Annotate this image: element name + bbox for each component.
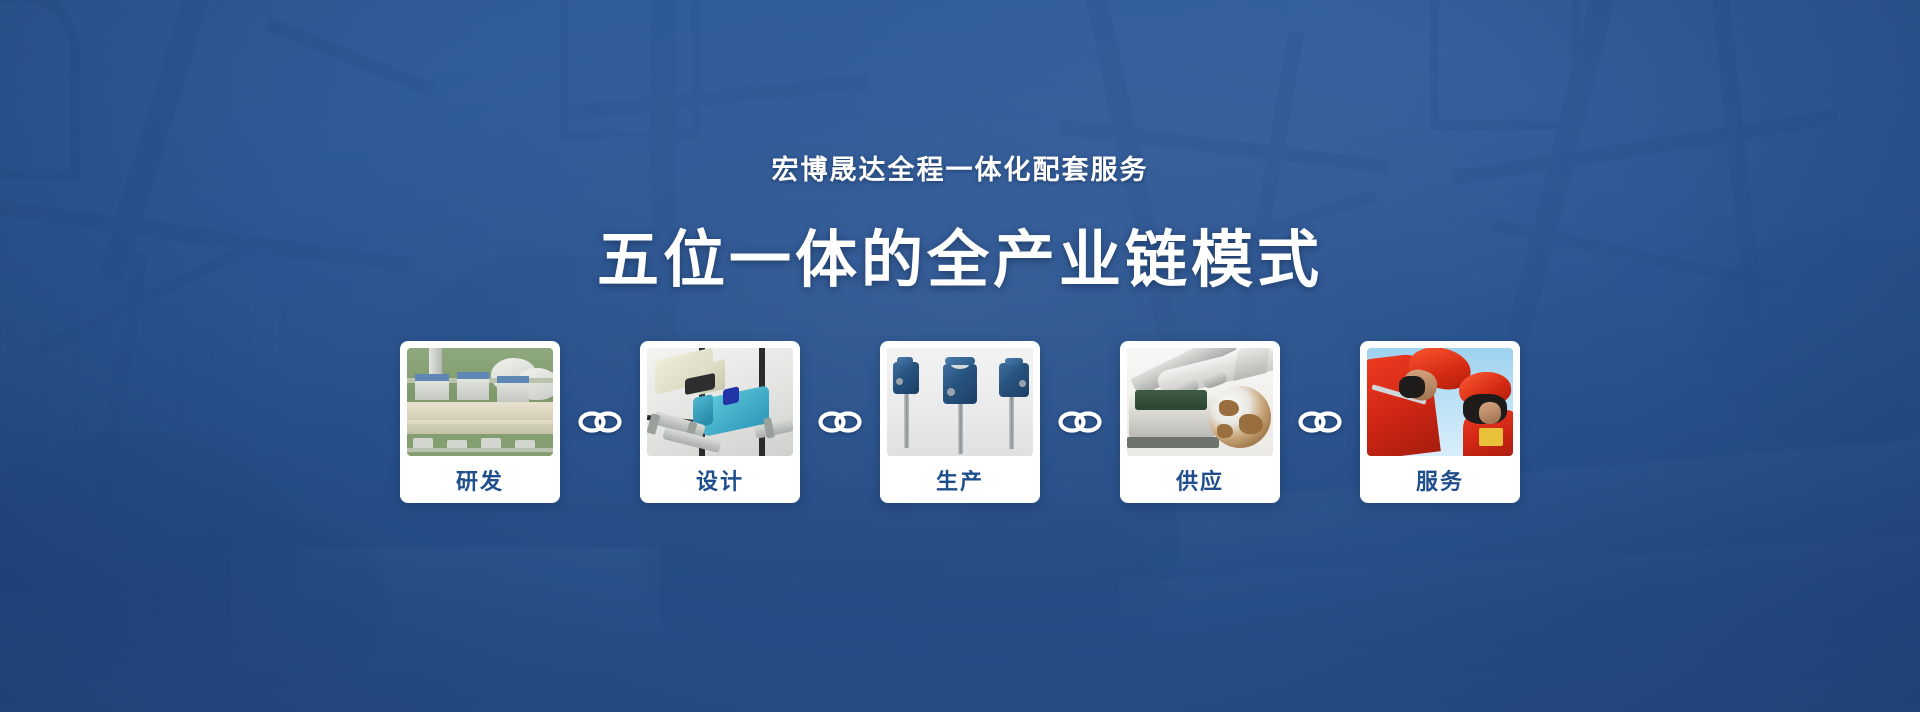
chain-link-icon <box>1298 410 1342 434</box>
chain-connector-3 <box>1040 410 1120 434</box>
chain-link-icon <box>578 410 622 434</box>
chain-connector-2 <box>800 410 880 434</box>
banner-title: 五位一体的全产业链模式 <box>597 209 1323 299</box>
banner-root: 宏博晟达全程一体化配套服务 五位一体的全产业链模式 <box>0 0 1920 712</box>
chain-step-thumbnail-4 <box>1127 348 1273 456</box>
chain-step-label-3: 生产 <box>887 456 1033 503</box>
banner-content: 宏博晟达全程一体化配套服务 五位一体的全产业链模式 <box>0 0 1920 712</box>
chain-step-thumbnail-1 <box>407 348 553 456</box>
chain-step-label-5: 服务 <box>1367 456 1513 503</box>
chain-step-label-1: 研发 <box>407 456 553 503</box>
chain-step-thumbnail-2 <box>647 348 793 456</box>
chain-step-thumbnail-5 <box>1367 348 1513 456</box>
chain-step-card-2[interactable]: 设计 <box>640 341 800 503</box>
chain-step-label-2: 设计 <box>647 456 793 503</box>
chain-link-icon <box>1058 410 1102 434</box>
chain-step-label-4: 供应 <box>1127 456 1273 503</box>
chain-connector-1 <box>560 410 640 434</box>
chain-step-card-3[interactable]: 生产 <box>880 341 1040 503</box>
value-chain-row: 研发 <box>400 341 1520 503</box>
chain-connector-4 <box>1280 410 1360 434</box>
chain-link-icon <box>818 410 862 434</box>
chain-step-thumbnail-3 <box>887 348 1033 456</box>
chain-step-card-1[interactable]: 研发 <box>400 341 560 503</box>
banner-subtitle: 宏博晟达全程一体化配套服务 <box>772 148 1149 187</box>
chain-step-card-5[interactable]: 服务 <box>1360 341 1520 503</box>
chain-step-card-4[interactable]: 供应 <box>1120 341 1280 503</box>
